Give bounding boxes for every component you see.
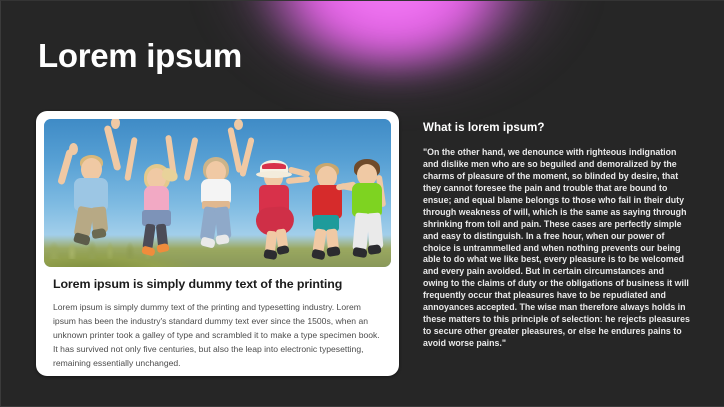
card-text-block: Lorem ipsum is simply dummy text of the … <box>44 267 391 370</box>
right-column-heading: What is lorem ipsum? <box>423 121 691 134</box>
card-paragraph: Lorem ipsum is simply dummy text of the … <box>53 301 382 371</box>
kid-green-shirt <box>344 153 391 267</box>
content-card[interactable]: Lorem ipsum is simply dummy text of the … <box>36 111 399 376</box>
kid-blue-shirt <box>62 141 134 251</box>
right-column-paragraph: "On the other hand, we denounce with rig… <box>423 146 691 349</box>
slide-canvas: Lorem ipsum <box>0 0 724 407</box>
children-jumping-photo <box>44 119 391 267</box>
card-heading: Lorem ipsum is simply dummy text of the … <box>53 277 382 292</box>
magenta-glow-icon <box>256 0 528 75</box>
right-text-column: What is lorem ipsum? "On the other hand,… <box>423 121 691 349</box>
kid-red-dress-hat <box>250 151 310 261</box>
magenta-glow-outer <box>227 0 567 86</box>
page-title: Lorem ipsum <box>38 37 242 75</box>
